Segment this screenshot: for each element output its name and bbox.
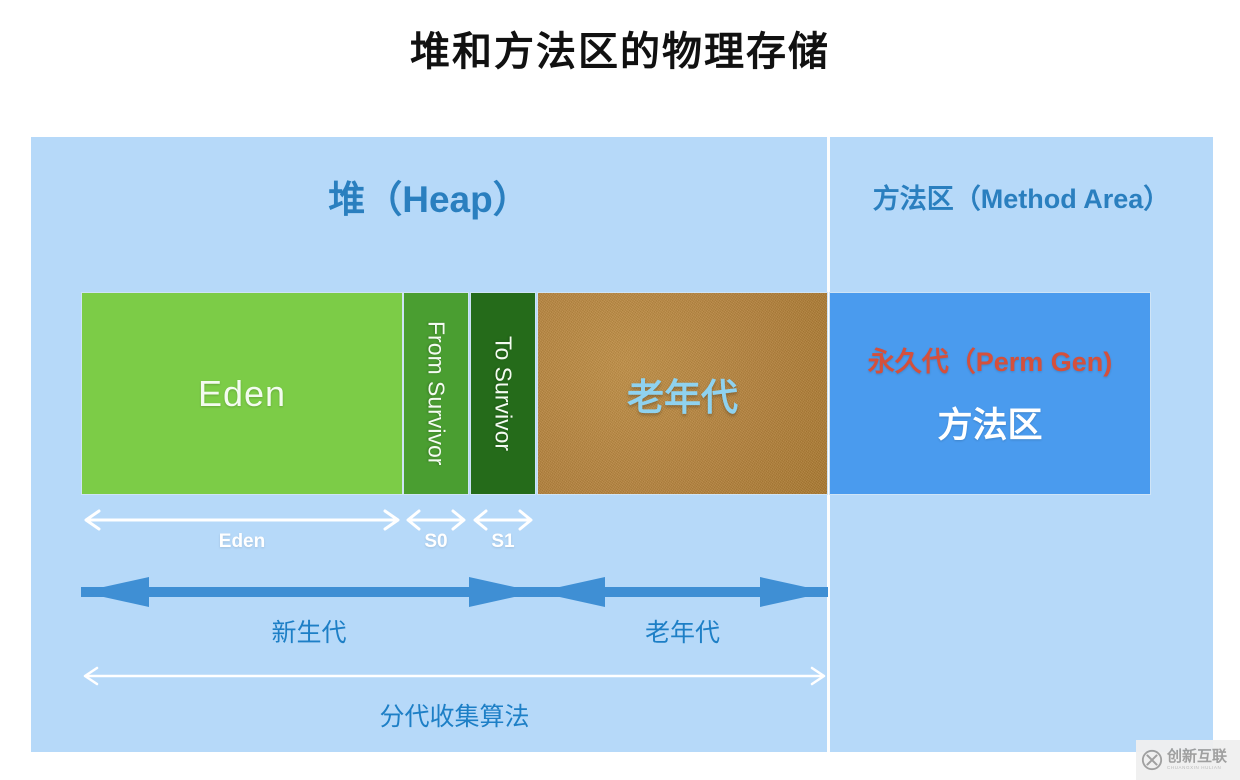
heap-region-caption: 堆（Heap）: [31, 169, 827, 223]
double-arrow-icon: [470, 507, 536, 533]
double-arrow-icon: [81, 507, 403, 533]
measure-caption-s0: S0: [403, 531, 469, 553]
double-arrow-icon: [403, 507, 469, 533]
measure-caption-s1: S1: [470, 531, 536, 553]
double-arrow-icon: [81, 575, 537, 609]
method-area-label: 方法区: [937, 397, 1042, 448]
watermark-text: 创新互联 CHUANGXIN HULIAN: [1167, 749, 1227, 771]
perm-gen-label: 永久代（Perm Gen): [868, 340, 1113, 379]
generation-caption-old: 老年代: [537, 613, 828, 649]
memory-diagram: 堆（Heap） 方法区（Method Area） Eden From Survi…: [31, 137, 1213, 752]
memory-block-to-survivor[interactable]: To Survivor: [470, 292, 536, 495]
old-generation-label: 老年代: [627, 367, 738, 421]
memory-block-old-generation[interactable]: 老年代: [537, 292, 828, 495]
method-area-region-caption: 方法区（Method Area）: [830, 177, 1213, 216]
double-arrow-icon: [81, 665, 828, 687]
watermark-title: 创新互联: [1167, 749, 1227, 764]
memory-block-perm-gen[interactable]: 永久代（Perm Gen) 方法区: [829, 292, 1151, 495]
generation-caption-young: 新生代: [81, 613, 537, 649]
double-arrow-icon: [537, 575, 828, 609]
gc-algorithm-caption: 分代收集算法: [81, 697, 828, 733]
measure-caption-eden: Eden: [81, 531, 403, 553]
watermark-subtitle: CHUANGXIN HULIAN: [1167, 766, 1227, 771]
from-survivor-label: From Survivor: [423, 321, 450, 465]
memory-block-eden[interactable]: Eden: [81, 292, 403, 495]
watermark: 创新互联 CHUANGXIN HULIAN: [1136, 740, 1240, 780]
circle-x-logo-icon: [1141, 749, 1163, 771]
eden-label: Eden: [198, 373, 286, 415]
memory-block-from-survivor[interactable]: From Survivor: [403, 292, 469, 495]
to-survivor-label: To Survivor: [490, 336, 517, 451]
page-title: 堆和方法区的物理存储: [0, 28, 1240, 76]
